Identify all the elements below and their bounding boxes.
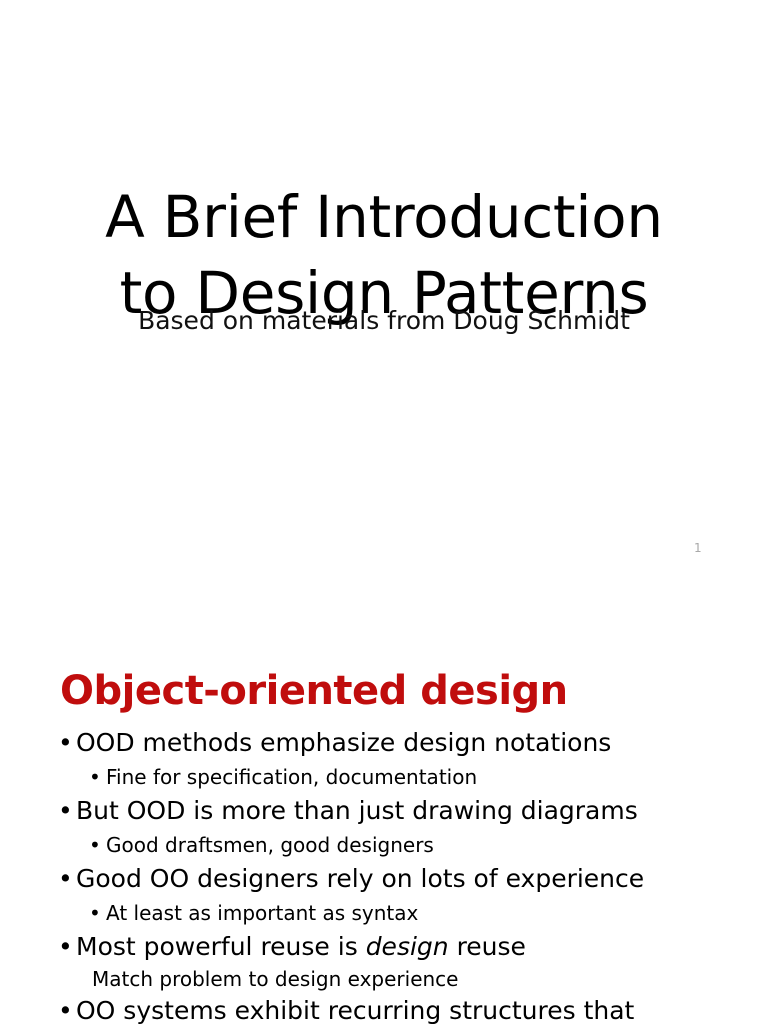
slide-object-oriented-design: Object-oriented design • OOD methods emp… xyxy=(0,596,768,1024)
list-item: • Good OO designers rely on lots of expe… xyxy=(58,862,768,896)
subtitle: Based on materials from Doug Schmidt xyxy=(40,304,728,338)
list-item: • At least as important as syntax xyxy=(89,897,768,930)
bullet-marker-icon: • xyxy=(58,862,73,896)
list-item-label: Fine for specification, documentation xyxy=(106,761,768,794)
bullet-marker-icon: • xyxy=(89,829,101,862)
list-item-label: At least as important as syntax xyxy=(106,897,768,930)
list-item-label: Good draftsmen, good designers xyxy=(106,829,768,862)
list-item-label: Most powerful reuse is design reuse xyxy=(76,930,768,964)
bullet-marker-icon: • xyxy=(89,761,101,794)
bullet-marker-icon: • xyxy=(89,897,101,930)
list-item: • OOD methods emphasize design notations xyxy=(58,726,768,760)
bullet-marker-icon: • xyxy=(58,794,73,828)
list-item: • Good draftsmen, good designers xyxy=(89,829,768,862)
list-item-text-pre: Most powerful reuse is xyxy=(76,932,366,961)
list-item-label: Match problem to design experience xyxy=(92,964,768,994)
list-item-label: But OOD is more than just drawing diagra… xyxy=(76,794,768,828)
list-item-continuation: Match problem to design experience xyxy=(92,964,768,994)
list-item-emphasis: design xyxy=(366,932,449,961)
bullet-marker-icon: • xyxy=(58,994,73,1028)
slide-deck-page: A Brief Introduction to Design Patterns … xyxy=(0,0,768,1024)
slide-heading: Object-oriented design xyxy=(60,666,568,716)
list-item-label: OOD methods emphasize design notations xyxy=(76,726,768,760)
slide-number: 1 xyxy=(694,540,724,556)
list-item: • Fine for specification, documentation xyxy=(89,761,768,794)
list-item: • But OOD is more than just drawing diag… xyxy=(58,794,768,828)
list-item-label: OO systems exhibit recurring structures … xyxy=(76,994,768,1028)
bullet-marker-icon: • xyxy=(58,726,73,760)
list-item: • Most powerful reuse is design reuse xyxy=(58,930,768,964)
slide-title: A Brief Introduction to Design Patterns … xyxy=(0,0,768,596)
bullet-marker-icon: • xyxy=(58,930,73,964)
list-item-label: Good OO designers rely on lots of experi… xyxy=(76,862,768,896)
list-item: • OO systems exhibit recurring structure… xyxy=(58,994,768,1028)
list-item-text-post: reuse xyxy=(449,932,526,961)
bullet-list: • OOD methods emphasize design notations… xyxy=(0,726,768,1028)
